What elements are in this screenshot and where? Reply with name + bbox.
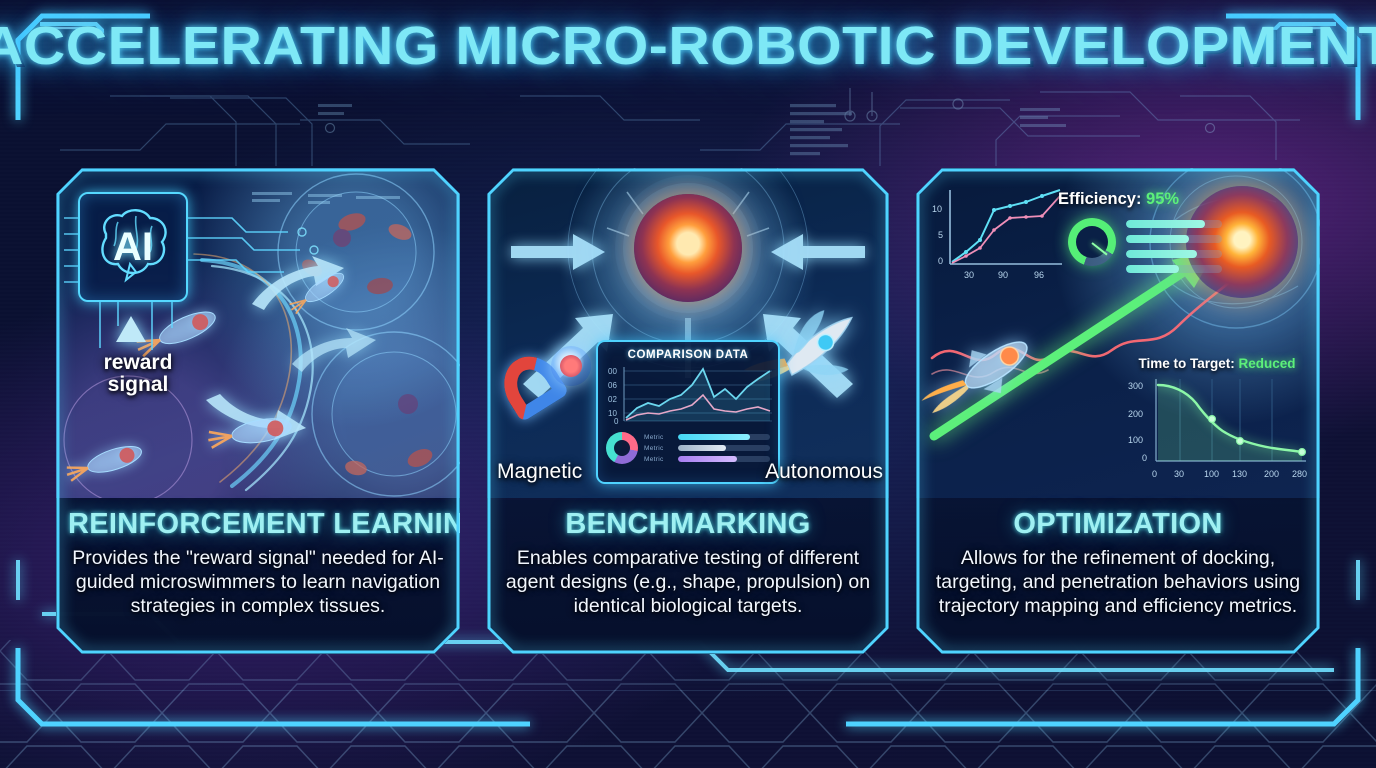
svg-text:02: 02 xyxy=(608,395,617,404)
panel2-caption: BENCHMARKING Enables comparative testing… xyxy=(487,500,889,654)
time-to-target-title: Time to Target: Reduced xyxy=(1124,356,1310,371)
panel3-illustration: 10 5 0 30 90 96 xyxy=(916,168,1320,498)
svg-text:0: 0 xyxy=(614,417,619,426)
efficiency-bars xyxy=(1126,220,1222,280)
metric-bar-label: Metric xyxy=(644,456,674,463)
comparison-data-card: COMPARISON DATA 0006 0210 0 xyxy=(596,340,780,484)
time-to-target-chart: 300 200 100 0 0 30 100 130 200 280 xyxy=(1124,373,1310,485)
donut-chart-icon xyxy=(606,432,638,464)
panel1-body: Provides the "reward signal" needed for … xyxy=(68,546,448,619)
efficiency-bar xyxy=(1126,265,1222,273)
panel-optimization[interactable]: 10 5 0 30 90 96 xyxy=(916,168,1320,654)
comparison-data-metrics: Metric Metric Metric xyxy=(606,432,770,464)
efficiency-label: Efficiency: 95% xyxy=(1058,190,1179,209)
panel1-caption: REINFORCEMENT LEARNING Provides the "rew… xyxy=(56,500,460,654)
metric-bar-row: Metric xyxy=(644,445,770,452)
reward-up-arrow-icon xyxy=(116,316,146,342)
metric-bar-track xyxy=(678,456,770,462)
metric-bar-row: Metric xyxy=(644,434,770,441)
efficiency-bar xyxy=(1126,220,1222,228)
reward-signal-label: reward signal xyxy=(68,352,208,396)
panels-row: AI reward signal REINFORCEMENT LEARNING … xyxy=(0,168,1376,654)
panel3-caption: OPTIMIZATION Allows for the refinement o… xyxy=(916,500,1320,654)
svg-text:200: 200 xyxy=(1264,469,1279,479)
svg-text:0: 0 xyxy=(1152,469,1157,479)
title-bar: ACCELERATING MICRO-ROBOTIC DEVELOPMENT xyxy=(0,8,1376,84)
metric-bar-label: Metric xyxy=(644,445,674,452)
panel1-illustration: AI reward signal xyxy=(56,168,460,498)
panel-reinforcement-learning[interactable]: AI reward signal REINFORCEMENT LEARNING … xyxy=(56,168,460,654)
infographic-root: ACCELERATING MICRO-ROBOTIC DEVELOPMENT xyxy=(0,0,1376,768)
magnetic-label: Magnetic xyxy=(497,460,582,484)
svg-text:100: 100 xyxy=(1128,435,1143,445)
efficiency-gauge-icon xyxy=(1068,218,1116,266)
panel2-illustration: COMPARISON DATA 0006 0210 0 xyxy=(487,168,889,498)
metric-bars: Metric Metric Metric xyxy=(644,434,770,463)
efficiency-bar xyxy=(1126,235,1222,243)
time-to-target-card: Time to Target: Reduced 300 200 100 xyxy=(1124,356,1310,490)
svg-text:200: 200 xyxy=(1128,409,1143,419)
reward-signal-line1: reward xyxy=(104,351,173,374)
reward-signal-line2: signal xyxy=(108,373,169,396)
cell-cluster-icon xyxy=(634,194,742,302)
metric-bar-label: Metric xyxy=(644,434,674,441)
panel2-title: BENCHMARKING xyxy=(499,508,877,541)
svg-text:100: 100 xyxy=(1204,469,1219,479)
svg-text:130: 130 xyxy=(1232,469,1247,479)
panel3-title: OPTIMIZATION xyxy=(928,508,1308,541)
metric-bar-track xyxy=(678,445,770,451)
time-to-target-label: Time to Target: xyxy=(1138,356,1234,371)
panel1-title: REINFORCEMENT LEARNING xyxy=(68,508,448,541)
time-to-target-value: Reduced xyxy=(1239,356,1296,371)
efficiency-label-text: Efficiency: xyxy=(1058,190,1141,208)
ai-chip-label: AI xyxy=(80,194,186,300)
svg-text:280: 280 xyxy=(1292,469,1307,479)
panel-benchmarking[interactable]: COMPARISON DATA 0006 0210 0 xyxy=(487,168,889,654)
efficiency-bar xyxy=(1126,250,1222,258)
autonomous-label: Autonomous xyxy=(765,460,883,484)
svg-text:0: 0 xyxy=(1142,453,1147,463)
metric-bar-track xyxy=(678,434,770,440)
svg-text:30: 30 xyxy=(1174,469,1184,479)
svg-text:06: 06 xyxy=(608,381,617,390)
magnet-target-cell-icon xyxy=(551,346,591,386)
svg-text:300: 300 xyxy=(1128,381,1143,391)
ai-chip-icon: AI xyxy=(78,192,188,302)
metric-bar-row: Metric xyxy=(644,456,770,463)
panel3-body: Allows for the refinement of docking, ta… xyxy=(928,546,1308,619)
svg-text:00: 00 xyxy=(608,367,617,376)
comparison-data-title: COMPARISON DATA xyxy=(606,349,770,361)
page-title: ACCELERATING MICRO-ROBOTIC DEVELOPMENT xyxy=(0,15,1376,77)
efficiency-value: 95% xyxy=(1146,190,1179,208)
comparison-data-chart: 0006 0210 0 xyxy=(606,365,770,427)
panel2-body: Enables comparative testing of different… xyxy=(499,546,877,619)
gauge-needle-icon xyxy=(1091,242,1107,255)
